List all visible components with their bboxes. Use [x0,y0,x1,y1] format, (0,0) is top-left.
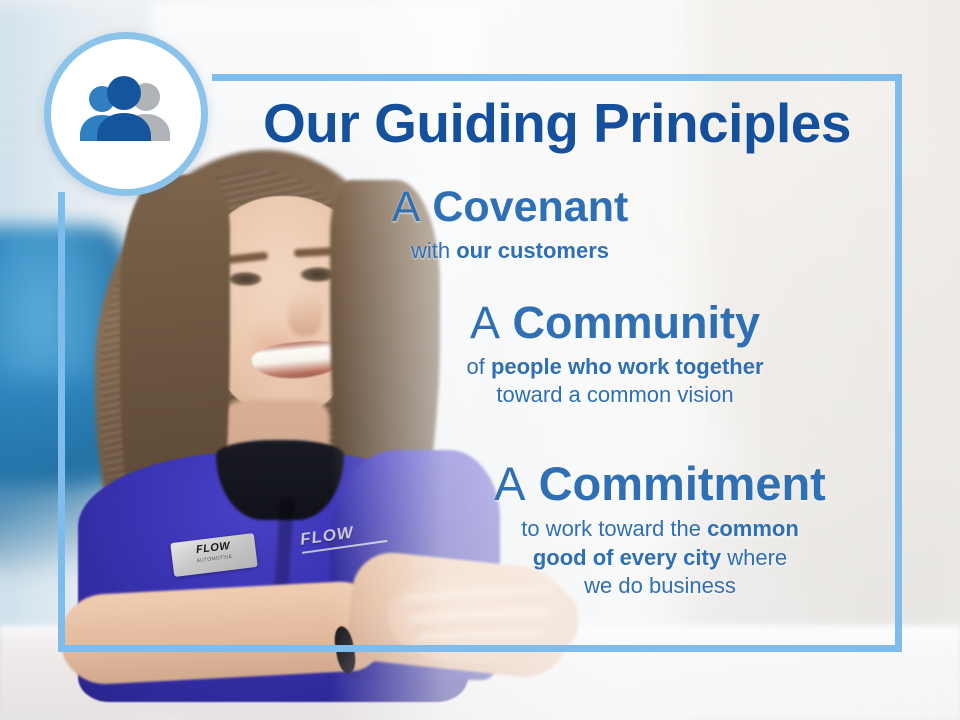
people-group-icon-badge [44,32,208,196]
principle-keyword: Covenant [432,183,628,231]
principle-article: A [470,297,500,348]
frame-border-bottom [58,645,902,652]
photo-employee-eye-left [228,272,262,286]
principle-article: A [494,457,525,510]
page-title: Our Guiding Principles [212,95,902,152]
guiding-principles-graphic: FLOW AUTOMOTIVE FLOW [0,0,960,720]
principle-keyword: Community [513,297,761,348]
frame-border-right [895,74,902,652]
principle-block-community: A Community of people who work togethert… [390,300,840,410]
people-group-icon [74,75,178,153]
principle-article: A [392,183,421,231]
principle-lead-covenant: A Covenant [300,186,720,230]
photo-employee-nose [288,292,322,336]
principle-block-commitment: A Commitment to work toward the commongo… [430,460,890,601]
frame-border-left [58,192,65,652]
principle-lead-community: A Community [390,300,840,346]
principle-block-covenant: A Covenant with our customers [300,186,720,265]
principle-detail-community: of people who work togethertoward a comm… [390,353,840,410]
principle-detail-commitment: to work toward the commongood of every c… [430,515,890,601]
principle-detail-covenant: with our customers [300,237,720,266]
principle-keyword: Commitment [539,457,826,510]
principle-lead-commitment: A Commitment [430,460,890,508]
photo-employee-arm-left [58,580,382,687]
frame-border-top [212,74,902,81]
